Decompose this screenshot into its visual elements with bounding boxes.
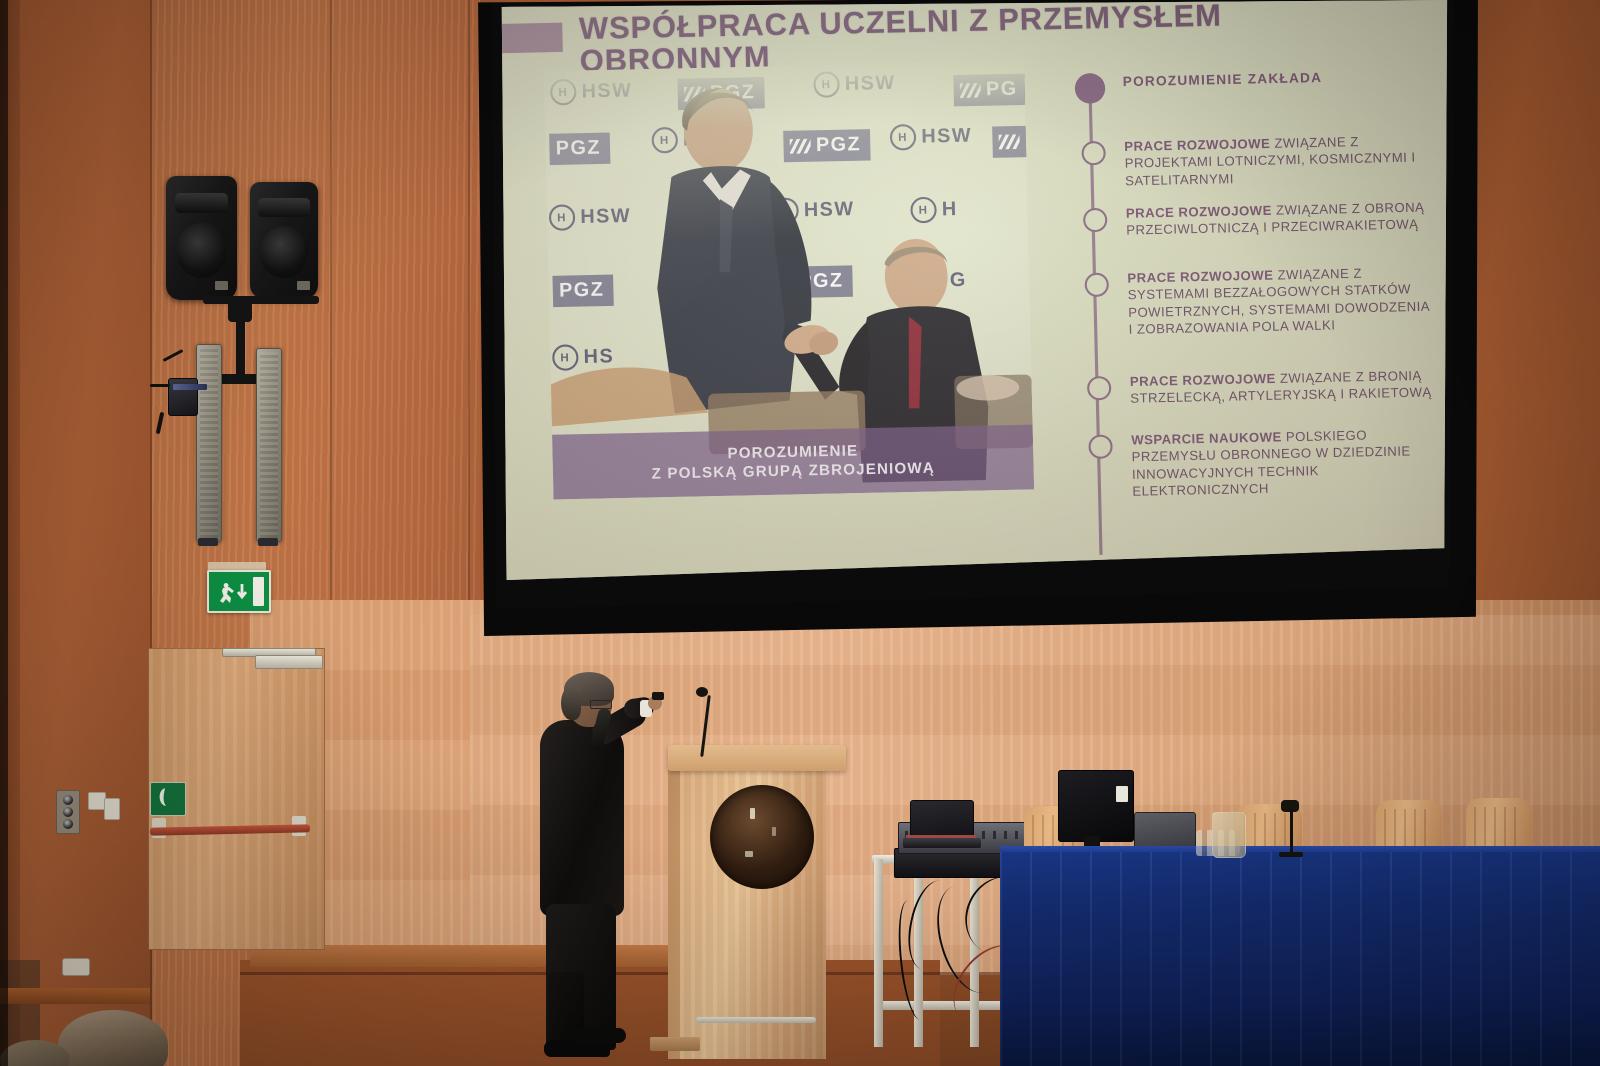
timeline-dot: [1082, 208, 1107, 233]
presenter: [528, 672, 668, 1064]
column-speaker-foot: [258, 538, 278, 546]
photo-caption-line2: Z POLSKĄ GRUPĄ ZBROJENIOWĄ: [651, 460, 935, 483]
speaker-badge: [297, 281, 310, 290]
speaker-stand-base: [218, 374, 258, 384]
slide-timeline: POROZUMIENIE ZAKŁADA PRACE ROZWOJOWE ZWI…: [1066, 61, 1433, 559]
timeline-item: PRACE ROZWOJOWE ZWIĄZANE Z OBRONĄ PRZECI…: [1126, 199, 1430, 240]
column-speaker-right: [256, 348, 282, 542]
timeline-item: WSPARCIE NAUKOWE POLSKIEGO PRZEMYSŁU OBR…: [1131, 426, 1436, 501]
speaker-horn: [258, 198, 310, 217]
column-speaker-grille: [260, 352, 278, 538]
stage-monitor: [1058, 770, 1134, 842]
emergency-exit-sign: [207, 570, 271, 613]
column-speaker-foot: [198, 538, 218, 546]
left-edge-shadow: [0, 0, 8, 1066]
speaker-woofer: [176, 223, 227, 278]
timeline-header: POROZUMIENIE ZAKŁADA: [1123, 69, 1323, 89]
column-speaker-grille: [200, 348, 218, 538]
presenter-shoe: [572, 1028, 626, 1043]
speaker-stand-clamp: [228, 300, 252, 322]
lectern-emblem: [710, 785, 814, 889]
emergency-equipment-sign: [150, 782, 186, 816]
timeline-item-lead: PRACE ROZWOJOWE: [1130, 371, 1276, 389]
monitor-label: [1116, 786, 1128, 802]
lectern: [668, 745, 846, 1055]
wall-outlet: [62, 958, 90, 976]
column-speaker-left: [196, 344, 222, 542]
timeline-dot-filled: [1075, 73, 1106, 104]
light-switch[interactable]: [104, 798, 120, 820]
photo-caption: POROZUMIENIE Z POLSKĄ GRUPĄ ZBROJENIOWĄ: [552, 425, 1034, 500]
presidium-table-drape: [1000, 852, 1600, 1066]
timeline-item: PRACE ROZWOJOWE ZWIĄZANE Z BRONIĄ STRZEL…: [1130, 367, 1434, 408]
timeline-item-lead: WSPARCIE NAUKOWE: [1131, 430, 1282, 448]
speaker-woofer: [260, 226, 309, 277]
socket: [63, 795, 73, 805]
timeline-item-lead: PRACE ROZWOJOWE: [1126, 203, 1272, 221]
lectern-top: [668, 745, 846, 771]
emblem-highlight: [745, 851, 753, 857]
timeline-dot: [1088, 434, 1113, 459]
wireless-receiver: [168, 378, 198, 416]
av-socket-panel[interactable]: [56, 790, 80, 834]
water-jug: [1212, 812, 1246, 858]
timeline-item-lead: PRACE ROZWOJOWE: [1124, 136, 1270, 154]
pa-speaker-left: [166, 176, 237, 300]
first-aid-icon: [151, 783, 181, 811]
emblem-highlight: [750, 808, 755, 819]
cart-leg: [874, 859, 883, 1047]
projected-slide-area: WSPÓŁPRACA UCZELNI Z PRZEMYSŁEM OBRONNYM…: [497, 0, 1449, 580]
speaker-horn: [175, 193, 229, 213]
pa-speaker-right: [250, 182, 318, 299]
lectern-step: [650, 1037, 700, 1051]
timeline-item: PRACE ROZWOJOWE ZWIĄZANE Z PROJEKTAMI LO…: [1124, 132, 1428, 190]
exit-sign-door-bar: [253, 577, 264, 606]
photo-caption-line1: POROZUMIENIE: [727, 443, 858, 462]
seating-rail: [0, 988, 150, 1004]
timeline-item-lead: PRACE ROZWOJOWE: [1127, 268, 1273, 286]
socket: [63, 819, 73, 829]
lecture-hall-photo: WSPÓŁPRACA UCZELNI Z PRZEMYSŁEM OBRONNYM…: [0, 0, 1600, 1066]
timeline-dot: [1084, 273, 1109, 298]
slide-photo: HHSW PGZ HHSW PG PGZ HHSW: [543, 61, 1034, 499]
emblem-highlight: [772, 827, 776, 836]
speaker-badge: [215, 281, 228, 290]
av-laptop-base: [903, 838, 981, 848]
lectern-rail: [696, 1017, 816, 1023]
presentation-slide: WSPÓŁPRACA UCZELNI Z PRZEMYSŁEM OBRONNYM…: [497, 0, 1449, 580]
av-laptop-edge: [906, 835, 976, 838]
timeline-dot: [1086, 376, 1111, 401]
receiver-display: [173, 384, 207, 390]
table-microphone-base: [1279, 852, 1303, 857]
left-wall-panel: [0, 0, 152, 1066]
speaker-crossbar: [203, 296, 319, 304]
table-drape-folds: [1000, 852, 1600, 1066]
presenter-hair-side: [561, 686, 581, 720]
timeline-dot: [1081, 141, 1106, 166]
door-closer-body: [255, 655, 323, 669]
cable: [150, 384, 170, 387]
lectern-microphone-head: [696, 687, 708, 697]
timeline-item: PRACE ROZWOJOWE ZWIĄZANE Z SYSTEMAMI BEZ…: [1127, 264, 1432, 339]
presenter-torso: [540, 720, 624, 916]
presenter-clicker: [652, 692, 664, 700]
slide-accent-bar: [497, 23, 563, 54]
socket: [63, 807, 73, 817]
table-microphone-stem: [1290, 808, 1293, 856]
